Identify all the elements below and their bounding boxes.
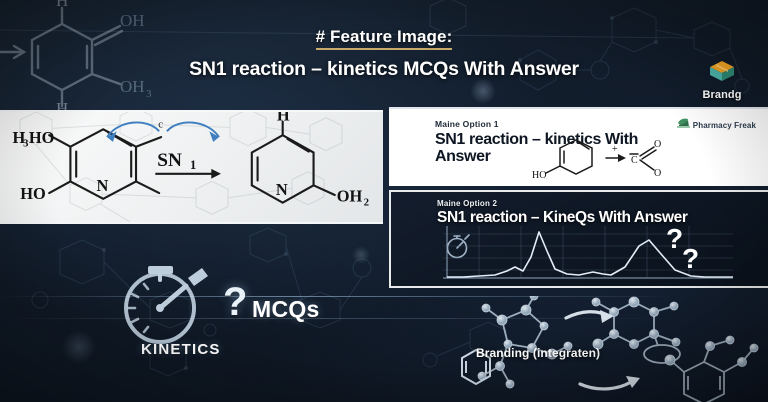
svg-text:+: + xyxy=(612,144,618,155)
svg-text:HO: HO xyxy=(20,184,46,203)
reaction-diagram-panel: H 3 HO HO N c xyxy=(0,110,383,224)
question-mark-icon: ? ? xyxy=(666,222,724,270)
svg-text:O: O xyxy=(654,139,661,150)
svg-text:N: N xyxy=(96,176,108,195)
svg-text:1: 1 xyxy=(190,158,196,172)
svg-text:2: 2 xyxy=(364,198,369,209)
option-1-kicker: Maine Option 1 xyxy=(435,119,499,129)
reaction-scheme: H 3 HO HO N c xyxy=(0,112,383,222)
svg-text:3: 3 xyxy=(23,139,28,150)
bokeh-dot-2 xyxy=(62,330,96,364)
header-title: SN1 reaction – kinetics MCQs With Answer xyxy=(189,58,579,81)
option-2-panel: Maine Option 2 SN1 reaction – KineQs Wit… xyxy=(389,190,768,288)
branding-cluster: Branding (integraten) xyxy=(448,296,768,402)
brand-badge[interactable]: Brandg xyxy=(686,60,758,101)
option-2-kicker: Maine Option 2 xyxy=(437,199,497,208)
stopwatch-icon xyxy=(110,258,230,346)
kinetics-cluster: ? MCQs Kinetics xyxy=(105,258,355,366)
kinetics-label: Kinetics xyxy=(141,336,221,360)
svg-text:H: H xyxy=(277,112,290,125)
branding-caption: Branding (integraten) xyxy=(476,346,600,360)
svg-text:O: O xyxy=(654,168,661,179)
pharmacy-freak-name: Pharmacy Freak xyxy=(693,121,756,130)
feature-image-canvas: H H OH OH 3 # Feature Image: SN1 reactio… xyxy=(0,0,768,402)
brand-box-icon xyxy=(709,60,735,87)
pharmacy-freak-logo: Pharmacy Freak xyxy=(677,116,756,134)
header-kicker: # Feature Image: xyxy=(316,27,453,50)
header: # Feature Image: SN1 reaction – kinetics… xyxy=(0,0,768,108)
svg-text:?: ? xyxy=(666,223,683,254)
svg-text:N: N xyxy=(276,180,288,199)
svg-text:SN: SN xyxy=(157,150,182,171)
svg-text:HO: HO xyxy=(29,128,55,147)
option-1-panel: Pharmacy Freak Maine Option 1 SN1 reacti… xyxy=(389,107,768,186)
svg-text:HO: HO xyxy=(532,170,546,181)
svg-text:OH: OH xyxy=(337,187,363,206)
svg-text:?: ? xyxy=(682,243,699,270)
svg-text:c: c xyxy=(158,119,163,130)
brand-name: Brandg xyxy=(702,89,741,101)
option-1-structure-icon: HO + C O O xyxy=(532,138,682,184)
svg-text:C: C xyxy=(631,155,638,166)
mcqs-label: MCQs xyxy=(252,296,320,323)
question-mark-icon: ? xyxy=(223,282,247,322)
option-2-title: SN1 reaction – KineQs With Answer xyxy=(437,209,688,227)
